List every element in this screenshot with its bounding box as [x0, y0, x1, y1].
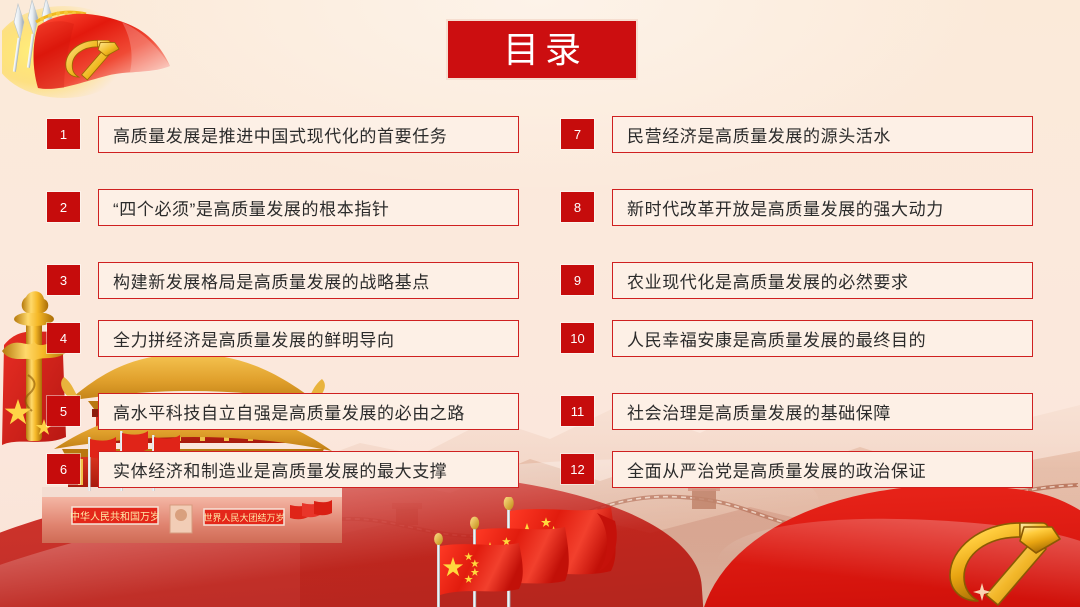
page-title: 目录: [446, 19, 638, 80]
toc-left-column: 1 高质量发展是推进中国式现代化的首要任务 2 “四个必须”是高质量发展的根本指…: [47, 104, 519, 494]
toc-entry-label: 社会治理是高质量发展的基础保障: [627, 399, 891, 424]
tiananmen-banner-left: 中华人民共和国万岁: [70, 507, 160, 524]
toc-entry-box[interactable]: 民营经济是高质量发展的源头活水: [612, 116, 1033, 153]
toc-item-4[interactable]: 4 全力拼经济是高质量发展的鲜明导向: [47, 314, 519, 362]
toc-entry-label: 高水平科技自立自强是高质量发展的必由之路: [113, 399, 465, 424]
red-ribbon-right-highlight-icon: [717, 492, 1080, 607]
table-of-contents: 1 高质量发展是推进中国式现代化的首要任务 2 “四个必须”是高质量发展的根本指…: [0, 104, 1080, 494]
toc-item-11[interactable]: 11 社会治理是高质量发展的基础保障: [561, 387, 1033, 435]
toc-item-8[interactable]: 8 新时代改革开放是高质量发展的强大动力: [561, 183, 1033, 231]
toc-entry-label: 全力拼经济是高质量发展的鲜明导向: [113, 326, 395, 351]
toc-number-badge: 4: [47, 323, 80, 353]
toc-entry-label: 构建新发展格局是高质量发展的战略基点: [113, 268, 430, 293]
toc-entry-box[interactable]: 新时代改革开放是高质量发展的强大动力: [612, 189, 1033, 226]
toc-entry-label: 高质量发展是推进中国式现代化的首要任务: [113, 122, 447, 147]
toc-entry-label: 新时代改革开放是高质量发展的强大动力: [627, 195, 944, 220]
toc-entry-box[interactable]: 农业现代化是高质量发展的必然要求: [612, 262, 1033, 299]
toc-item-12[interactable]: 12 全面从严治党是高质量发展的政治保证: [561, 445, 1033, 493]
toc-number-badge: 7: [561, 119, 594, 149]
toc-entry-label: 农业现代化是高质量发展的必然要求: [627, 268, 909, 293]
toc-number-badge: 5: [47, 396, 80, 426]
toc-entry-label: 实体经济和制造业是高质量发展的最大支撑: [113, 457, 447, 482]
toc-number-badge: 3: [47, 265, 80, 295]
toc-item-9[interactable]: 9 农业现代化是高质量发展的必然要求: [561, 256, 1033, 304]
toc-entry-box[interactable]: 全面从严治党是高质量发展的政治保证: [612, 451, 1033, 488]
toc-right-column: 7 民营经济是高质量发展的源头活水 8 新时代改革开放是高质量发展的强大动力 9…: [561, 104, 1033, 494]
toc-item-5[interactable]: 5 高水平科技自立自强是高质量发展的必由之路: [47, 387, 519, 435]
toc-item-6[interactable]: 6 实体经济和制造业是高质量发展的最大支撑: [47, 445, 519, 493]
svg-text:中华人民共和国万岁: 中华人民共和国万岁: [70, 510, 160, 523]
toc-number-badge: 1: [47, 119, 80, 149]
toc-entry-box[interactable]: “四个必须”是高质量发展的根本指针: [98, 189, 519, 226]
toc-item-2[interactable]: 2 “四个必须”是高质量发展的根本指针: [47, 183, 519, 231]
toc-number-badge: 8: [561, 192, 594, 222]
toc-number-badge: 2: [47, 192, 80, 222]
toc-entry-label: 民营经济是高质量发展的源头活水: [627, 122, 891, 147]
toc-entry-box[interactable]: 构建新发展格局是高质量发展的战略基点: [98, 262, 519, 299]
hammer-and-sickle-icon: [924, 509, 1074, 607]
cpc-party-flag-icon: [2, 0, 182, 108]
toc-number-badge: 9: [561, 265, 594, 295]
toc-entry-box[interactable]: 社会治理是高质量发展的基础保障: [612, 393, 1033, 430]
toc-item-3[interactable]: 3 构建新发展格局是高质量发展的战略基点: [47, 256, 519, 304]
toc-number-badge: 10: [561, 323, 594, 353]
toc-number-badge: 11: [561, 396, 594, 426]
toc-item-7[interactable]: 7 民营经济是高质量发展的源头活水: [561, 110, 1033, 158]
toc-entry-box[interactable]: 实体经济和制造业是高质量发展的最大支撑: [98, 451, 519, 488]
toc-entry-box[interactable]: 人民幸福安康是高质量发展的最终目的: [612, 320, 1033, 357]
china-national-flag-icon: [415, 497, 675, 607]
page-title-text: 目录: [497, 32, 587, 68]
toc-entry-box[interactable]: 高质量发展是推进中国式现代化的首要任务: [98, 116, 519, 153]
toc-number-badge: 12: [561, 454, 594, 484]
toc-entry-label: 全面从严治党是高质量发展的政治保证: [627, 457, 926, 482]
toc-item-1[interactable]: 1 高质量发展是推进中国式现代化的首要任务: [47, 110, 519, 158]
toc-entry-label: “四个必须”是高质量发展的根本指针: [113, 195, 390, 220]
svg-text:世界人民大团结万岁: 世界人民大团结万岁: [203, 512, 284, 524]
toc-number-badge: 6: [47, 454, 80, 484]
slide-root: 中华人民共和国万岁 世界人民大团结万岁: [0, 0, 1080, 607]
toc-entry-box[interactable]: 高水平科技自立自强是高质量发展的必由之路: [98, 393, 519, 430]
toc-entry-box[interactable]: 全力拼经济是高质量发展的鲜明导向: [98, 320, 519, 357]
toc-entry-label: 人民幸福安康是高质量发展的最终目的: [627, 326, 926, 351]
toc-item-10[interactable]: 10 人民幸福安康是高质量发展的最终目的: [561, 314, 1033, 362]
tiananmen-banner-right: 世界人民大团结万岁: [203, 509, 284, 525]
